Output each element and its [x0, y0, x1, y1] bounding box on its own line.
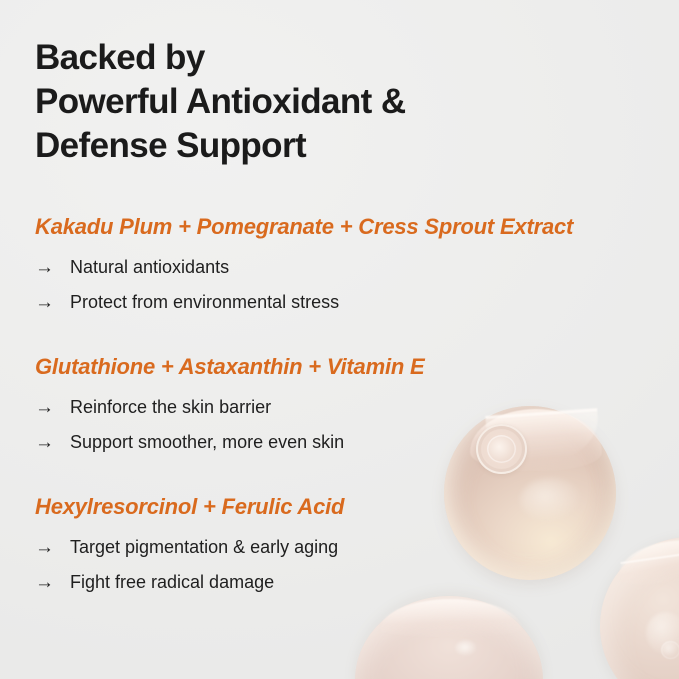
- serum-capsule-bottom-left-sheen-icon: [455, 640, 477, 656]
- page-title-line-3: Defense Support: [35, 124, 595, 168]
- serum-capsule-bottom-left-icon: [355, 596, 543, 679]
- page-title: Backed by Powerful Antioxidant & Defense…: [35, 36, 595, 168]
- arrow-right-icon: →: [35, 573, 57, 592]
- list-item: → Target pigmentation & early aging: [35, 535, 679, 559]
- arrow-right-icon: →: [35, 433, 57, 452]
- list-item: → Protect from environmental stress: [35, 290, 679, 314]
- arrow-right-icon: →: [35, 258, 57, 277]
- ingredient-section-2: Glutathione + Astaxanthin + Vitamin E → …: [35, 354, 679, 454]
- page-title-line-2: Powerful Antioxidant &: [35, 80, 595, 124]
- ingredient-section-2-benefit-list: → Reinforce the skin barrier → Support s…: [35, 395, 679, 455]
- ingredient-section-3-heading: Hexylresorcinol + Ferulic Acid: [35, 494, 679, 520]
- list-item: → Natural antioxidants: [35, 255, 679, 279]
- ingredient-section-2-heading: Glutathione + Astaxanthin + Vitamin E: [35, 354, 679, 380]
- page-title-line-1: Backed by: [35, 36, 595, 80]
- list-item-label: Target pigmentation & early aging: [70, 535, 338, 559]
- list-item: → Support smoother, more even skin: [35, 430, 679, 454]
- list-item-label: Support smoother, more even skin: [70, 430, 344, 454]
- infographic-card: Backed by Powerful Antioxidant & Defense…: [0, 0, 679, 679]
- arrow-right-icon: →: [35, 538, 57, 557]
- list-item: → Fight free radical damage: [35, 570, 679, 594]
- arrow-right-icon: →: [35, 293, 57, 312]
- ingredient-section-3: Hexylresorcinol + Ferulic Acid → Target …: [35, 494, 679, 594]
- ingredient-section-1-heading: Kakadu Plum + Pomegranate + Cress Sprout…: [35, 214, 679, 240]
- list-item-label: Natural antioxidants: [70, 255, 229, 279]
- serum-capsule-bottom-left-gloss-icon: [380, 599, 522, 637]
- ingredient-section-3-benefit-list: → Target pigmentation & early aging → Fi…: [35, 535, 679, 595]
- ingredient-section-1: Kakadu Plum + Pomegranate + Cress Sprout…: [35, 214, 679, 314]
- arrow-right-icon: →: [35, 398, 57, 417]
- serum-capsule-bottom-right-droplet-small-icon: [661, 641, 679, 659]
- list-item: → Reinforce the skin barrier: [35, 395, 679, 419]
- list-item-label: Fight free radical damage: [70, 570, 274, 594]
- list-item-label: Reinforce the skin barrier: [70, 395, 271, 419]
- list-item-label: Protect from environmental stress: [70, 290, 339, 314]
- ingredient-section-1-benefit-list: → Natural antioxidants → Protect from en…: [35, 255, 679, 315]
- serum-capsule-bottom-right-droplet-icon: [646, 612, 679, 654]
- content-column: Backed by Powerful Antioxidant & Defense…: [0, 0, 679, 594]
